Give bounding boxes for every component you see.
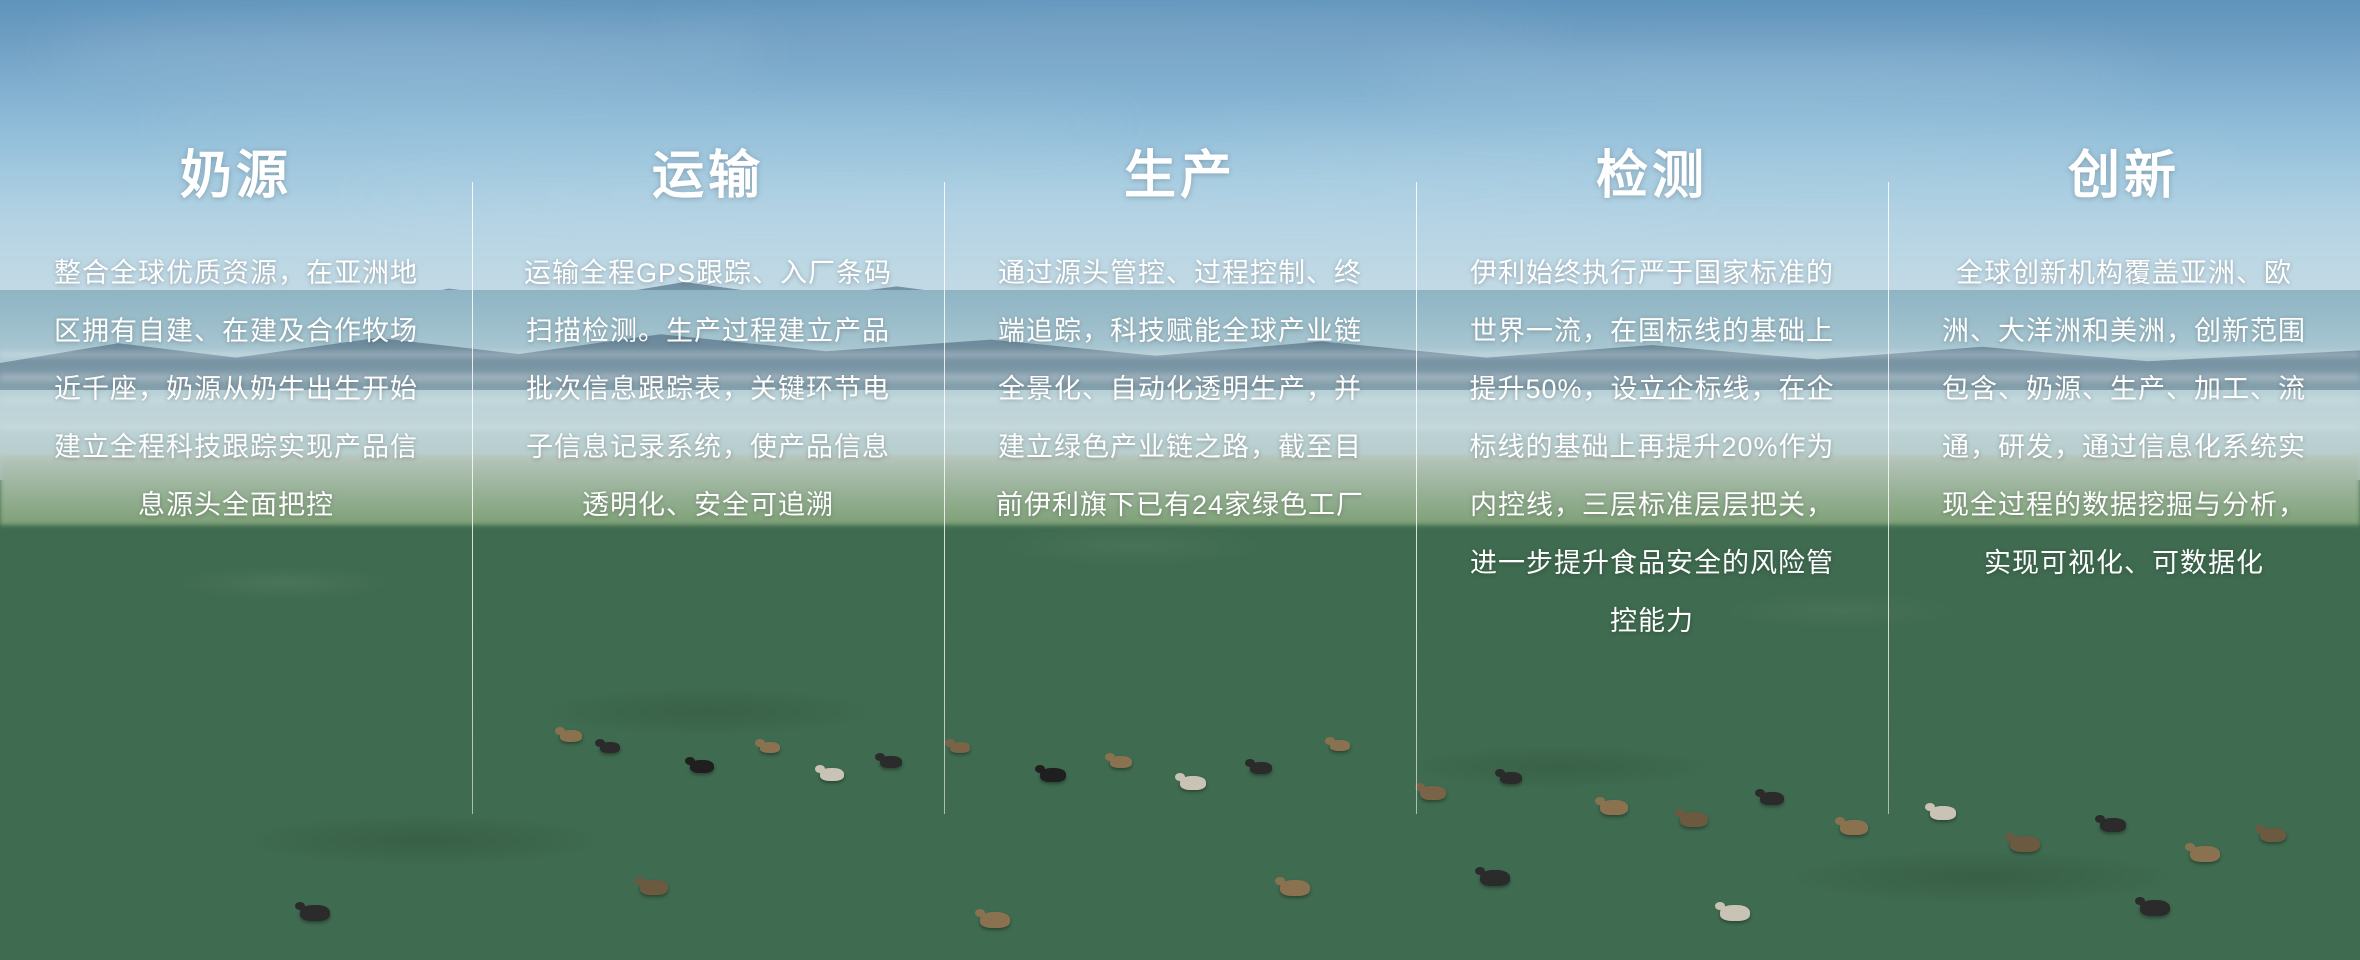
feature-columns: 奶源 整合全球优质资源，在亚洲地区拥有自建、在建及合作牧场近千座，奶源从奶牛出生… [0,0,2360,960]
column-description: 运输全程GPS跟踪、入厂条码扫描检测。生产过程建立产品批次信息跟踪表，关键环节电… [514,244,902,534]
column-title: 运输 [514,150,902,202]
feature-column-inspection: 检测 伊利始终执行严于国家标准的世界一流，在国标线的基础上提升50%，设立企标线… [1416,0,1888,960]
column-title: 检测 [1458,150,1846,202]
column-title: 创新 [1930,150,2318,202]
feature-column-production: 生产 通过源头管控、过程控制、终端追踪，科技赋能全球产业链全景化、自动化透明生产… [944,0,1416,960]
column-title: 生产 [986,150,1374,202]
column-description: 通过源头管控、过程控制、终端追踪，科技赋能全球产业链全景化、自动化透明生产，并建… [986,244,1374,534]
feature-column-innovation: 创新 全球创新机构覆盖亚洲、欧洲、大洋洲和美洲，创新范围包含、奶源、生产、加工、… [1888,0,2360,960]
hero-section: 奶源 整合全球优质资源，在亚洲地区拥有自建、在建及合作牧场近千座，奶源从奶牛出生… [0,0,2360,960]
feature-column-transport: 运输 运输全程GPS跟踪、入厂条码扫描检测。生产过程建立产品批次信息跟踪表，关键… [472,0,944,960]
column-description: 伊利始终执行严于国家标准的世界一流，在国标线的基础上提升50%，设立企标线，在企… [1458,244,1846,650]
feature-column-milk-source: 奶源 整合全球优质资源，在亚洲地区拥有自建、在建及合作牧场近千座，奶源从奶牛出生… [0,0,472,960]
column-description: 全球创新机构覆盖亚洲、欧洲、大洋洲和美洲，创新范围包含、奶源、生产、加工、流通，… [1930,244,2318,592]
column-description: 整合全球优质资源，在亚洲地区拥有自建、在建及合作牧场近千座，奶源从奶牛出生开始建… [42,244,430,534]
column-title: 奶源 [42,150,430,202]
